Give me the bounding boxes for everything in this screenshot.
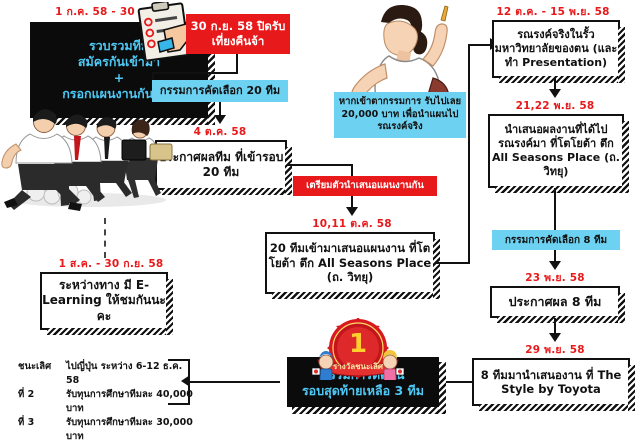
svg-text:1: 1 bbox=[349, 329, 367, 359]
prize-row: ที่ 2 รับทุนการศึกษาทีมละ 40,000 บาท bbox=[18, 388, 193, 416]
box-judge-20-label: กรรมการคัดเลือก 20 ทีม bbox=[160, 84, 280, 98]
prize-brace bbox=[168, 359, 190, 405]
box-judge-8: กรรมการคัดเลือก 8 ทีม bbox=[492, 230, 620, 250]
box-announce-20-line-1: ประกาศผลทีม bbox=[159, 150, 231, 164]
box-final-judging-line-1: กรรมการตัดสิน bbox=[302, 367, 424, 383]
box-final-judging-line-2: รอบสุดท้ายเหลือ 3 ทีม bbox=[302, 383, 424, 399]
box-announce-8-line-1: ประกาศผล 8 ทีม bbox=[509, 294, 602, 310]
prize-rank-1: ชนะเลิศ bbox=[18, 360, 66, 388]
box-final-judging: กรรมการตัดสิน รอบสุดท้ายเหลือ 3 ทีม bbox=[287, 357, 439, 407]
connector-campaign-in bbox=[468, 44, 492, 46]
arrow-campaign-down bbox=[549, 89, 561, 98]
arrow-announce8-down bbox=[549, 333, 561, 342]
box-campaign: รณรงค์จริงในรั้ว มหาวิทยาลัยของตน (และทำ… bbox=[492, 20, 620, 78]
prize-rank-3: ที่ 3 bbox=[18, 416, 66, 444]
box-apply-line-1: รวบรวมทีม bbox=[62, 38, 176, 54]
connector-announce20-right bbox=[287, 164, 353, 166]
connector-deadline-down bbox=[236, 54, 238, 74]
box-announce-8: ประกาศผล 8 ทีม bbox=[490, 286, 620, 318]
connector-final-judge-left bbox=[190, 381, 280, 383]
date-campaign: 12 ต.ค. - 15 พ.ย. 58 bbox=[478, 6, 628, 18]
connector-final8-left bbox=[445, 381, 473, 383]
date-elearning: 1 ส.ค. - 30 ก.ย. 58 bbox=[28, 258, 194, 270]
date-final-8: 29 พ.ย. 58 bbox=[500, 344, 610, 356]
arrow-prepare-down bbox=[346, 207, 358, 216]
date-report: 21,22 พ.ย. 58 bbox=[490, 100, 620, 112]
prize-text-3: รับทุนการศึกษาทีมละ 30,000 บาท bbox=[66, 416, 193, 444]
box-present-20: 20 ทีมเข้ามาเสนอแผนงาน ที่โตโยต้า ตึก Al… bbox=[265, 232, 435, 294]
box-final-8-line-1: 8 ทีมมานำเสนองาน bbox=[481, 368, 582, 382]
box-judge-8-label: กรรมการคัดเลือก 8 ทีม bbox=[505, 234, 607, 247]
box-final-8: 8 ทีมมานำเสนองาน ที่ The Style by Toyota bbox=[472, 358, 630, 406]
box-deadline: 30 ก.ย. 58 ปิดรับเที่ยงคืนจ้า bbox=[186, 14, 290, 54]
date-present-20: 10,11 ต.ค. 58 bbox=[296, 218, 408, 230]
box-campaign-line-1: รณรงค์จริงในรั้ว bbox=[517, 28, 594, 41]
box-prepare: เตรียมตัวนำเสนอแผนงานกัน bbox=[293, 176, 437, 196]
box-apply: รวบรวมทีม สมัครกันเข้ามา + กรอกแผนงานกัน… bbox=[30, 22, 208, 118]
connector-elearning-dashed bbox=[104, 218, 106, 258]
connector-announce8-down bbox=[554, 318, 556, 334]
arrow-judge8-down bbox=[549, 261, 561, 270]
prize-rank-2: ที่ 2 bbox=[18, 388, 66, 416]
box-reward-note: หากเข้าตากรรมการ รับไปเลย 20,000 บาท เพื… bbox=[334, 92, 466, 138]
box-report-line-2: รณรงค์มา ที่โตโยต้า bbox=[498, 137, 596, 150]
arrow-judge20-down bbox=[214, 115, 226, 124]
box-deadline-line-1: 30 ก.ย. 58 bbox=[191, 19, 253, 33]
prize-row: ชนะเลิศ ไปญี่ปุ่น ระหว่าง 6-12 ธ.ค. 58 bbox=[18, 360, 193, 388]
date-announce-20: 4 ต.ค. 58 bbox=[162, 126, 278, 138]
box-prepare-label: เตรียมตัวนำเสนอแผนงานกัน bbox=[306, 180, 424, 192]
prize-row: ที่ 3 รับทุนการศึกษาทีมละ 30,000 บาท bbox=[18, 416, 193, 444]
box-judge-20: กรรมการคัดเลือก 20 ทีม bbox=[152, 80, 288, 102]
box-elearning-line-3: ให้ชมกันนะคะ bbox=[97, 293, 166, 322]
connector-present20-right bbox=[435, 262, 470, 264]
box-apply-line-2: สมัครกันเข้ามา bbox=[62, 54, 176, 70]
date-announce-8: 23 พ.ย. 58 bbox=[500, 272, 610, 284]
connector-deadline-left bbox=[152, 72, 238, 74]
box-reward-note-line-1: หากเข้าตากรรมการ bbox=[339, 96, 421, 107]
box-report-line-1: นำเสนอผลงานที่ได้ไป bbox=[505, 123, 608, 136]
prize-list: ชนะเลิศ ไปญี่ปุ่น ระหว่าง 6-12 ธ.ค. 58 ท… bbox=[18, 360, 193, 444]
box-announce-20: ประกาศผลทีม ที่เข้ารอบ 20 ทีม bbox=[155, 140, 287, 190]
connector-present20-up bbox=[468, 44, 470, 264]
connector-judge20-down bbox=[219, 102, 221, 116]
box-elearning-line-1: ระหว่างทาง bbox=[59, 278, 120, 292]
infographic-canvas: 1 ก.ค. 58 - 30 ก.ย. 58 รวบรวมทีม สมัครกั… bbox=[0, 0, 640, 427]
box-report: นำเสนอผลงานที่ได้ไป รณรงค์มา ที่โตโยต้า … bbox=[488, 114, 624, 188]
box-elearning: ระหว่างทาง มี E-Learning ให้ชมกันนะคะ bbox=[40, 272, 168, 330]
box-campaign-line-2: มหาวิทยาลัยของตน bbox=[495, 42, 589, 55]
date-apply: 1 ก.ค. 58 - 30 ก.ย. 58 bbox=[22, 6, 212, 18]
box-present-20-line-1: 20 ทีมเข้ามาเสนอแผนงาน bbox=[270, 241, 405, 255]
connector-report-down bbox=[554, 188, 556, 230]
